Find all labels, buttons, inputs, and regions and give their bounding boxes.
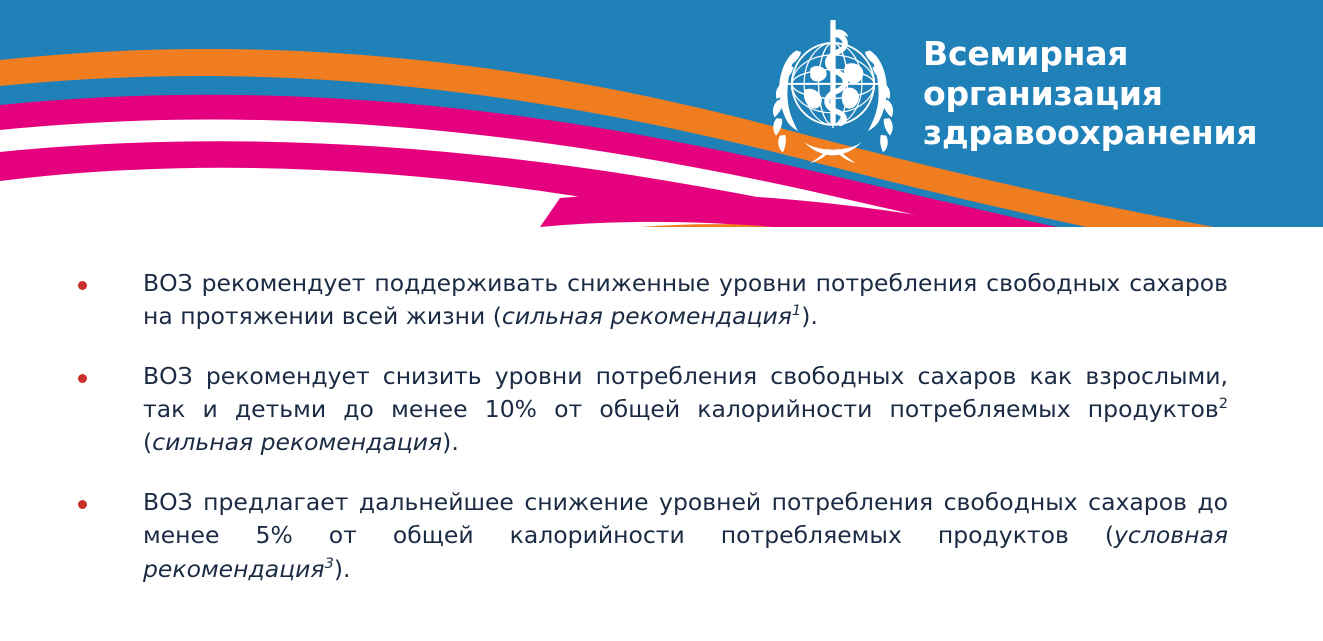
bullet-dot-icon <box>78 500 87 509</box>
list-item: ВОЗ рекомендует поддерживать сниженные у… <box>78 267 1228 334</box>
who-organization-name: Всемирная организация здравоохранения <box>923 14 1323 153</box>
who-logo-lockup: Всемирная организация здравоохранения <box>757 14 1323 166</box>
bullet-text-1: ВОЗ рекомендует поддерживать сниженные у… <box>143 267 1228 334</box>
slide-content: ВОЗ рекомендует поддерживать сниженные у… <box>0 227 1323 641</box>
bullet-dot-icon <box>78 281 87 290</box>
list-item: ВОЗ предлагает дальнейшее снижение уровн… <box>78 486 1228 586</box>
list-item: ВОЗ рекомендует снизить уровни потреблен… <box>78 360 1228 460</box>
bullet-text-2: ВОЗ рекомендует снизить уровни потреблен… <box>143 360 1228 460</box>
bullet-text-3: ВОЗ предлагает дальнейшее снижение уровн… <box>143 486 1228 586</box>
header-banner: Всемирная организация здравоохранения <box>0 0 1323 227</box>
bullet-dot-icon <box>78 374 87 383</box>
who-emblem-icon <box>757 14 909 166</box>
